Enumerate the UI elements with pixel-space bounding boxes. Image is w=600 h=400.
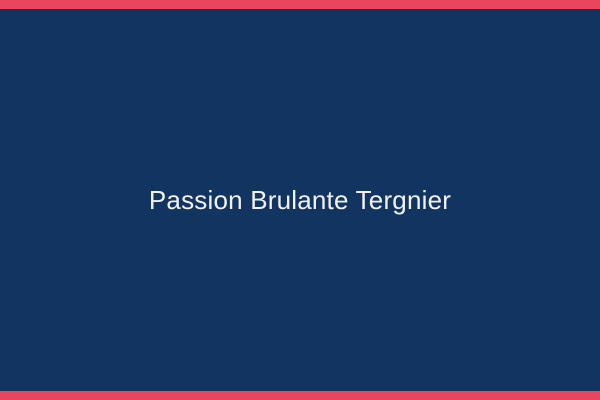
top-accent-bar: [0, 0, 600, 9]
bottom-accent-bar: [0, 391, 600, 400]
banner-container: Passion Brulante Tergnier: [0, 0, 600, 400]
banner-content: Passion Brulante Tergnier: [0, 184, 600, 217]
banner-title: Passion Brulante Tergnier: [24, 184, 576, 217]
